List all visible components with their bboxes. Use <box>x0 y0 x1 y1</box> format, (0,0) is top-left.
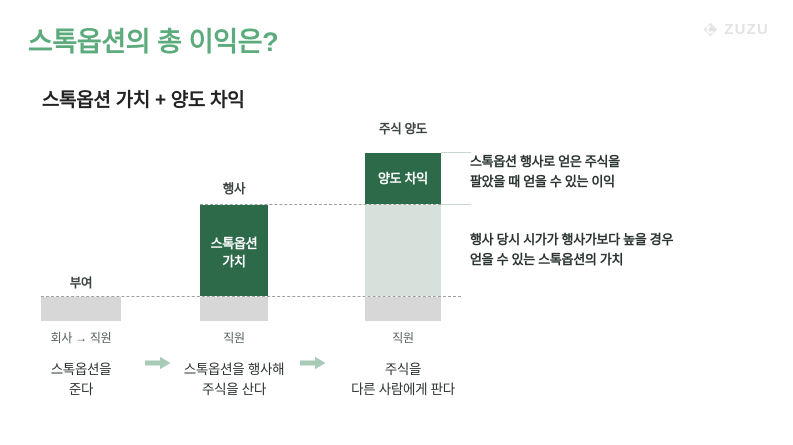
note-option-value-line1: 행사 당시 시가가 행사가보다 높을 경우 <box>470 230 673 250</box>
note-option-value-line2: 얻을 수 있는 스톡옵션의 가치 <box>470 250 673 270</box>
bar-transfer-strike <box>365 297 441 321</box>
bar-grant-strike <box>41 297 121 321</box>
bar-exercise-strike <box>200 297 268 321</box>
bar-transfer-option-value-shaded <box>365 205 441 296</box>
actor-label-step-2: 직원 <box>194 331 274 345</box>
step-text-2-line2: 주식을 산다 <box>202 382 266 397</box>
bar-label-option-value-line2: 가치 <box>222 254 245 269</box>
bar-exercise-option-value: 스톡옵션 가치 <box>200 205 268 296</box>
note-capital-gain-line2: 팔았을 때 얻을 수 있는 이익 <box>470 172 620 192</box>
step-text-1-line1: 스톡옵션을 <box>51 362 112 377</box>
bar-transfer-capital-gain: 양도 차익 <box>365 153 441 204</box>
step-text-2: 스톡옵션을 행사해 주식을 산다 <box>174 360 294 401</box>
gridline-transfer-top <box>441 152 471 153</box>
step-text-1: 스톡옵션을 준다 <box>11 360 151 401</box>
note-option-value: 행사 당시 시가가 행사가보다 높을 경우 얻을 수 있는 스톡옵션의 가치 <box>470 230 673 270</box>
step-text-1-line2: 준다 <box>69 382 93 397</box>
note-capital-gain-line1: 스톡옵션 행사로 얻은 주식을 <box>470 152 620 172</box>
step-text-2-line1: 스톡옵션을 행사해 <box>184 362 284 377</box>
caption-grant: 부여 <box>41 276 121 291</box>
flow-arrow-1-icon <box>145 356 171 370</box>
actor-label-step-3: 직원 <box>363 331 443 345</box>
caption-exercise: 행사 <box>200 182 268 197</box>
stock-option-waterfall-chart: 부여 행사 스톡옵션 가치 주식 양도 양도 차익 회사 → 직원 직원 직원 … <box>0 0 793 445</box>
caption-transfer: 주식 양도 <box>365 122 441 137</box>
slide-root: ZUZU 스톡옵션의 총 이익은? 스톡옵션 가치 + 양도 차익 부여 행사 … <box>0 0 793 445</box>
note-capital-gain: 스톡옵션 행사로 얻은 주식을 팔았을 때 얻을 수 있는 이익 <box>470 152 620 192</box>
bar-label-capital-gain: 양도 차익 <box>365 170 441 188</box>
bar-label-option-value-line1: 스톡옵션 <box>211 236 258 251</box>
step-text-3-line2: 다른 사람에게 판다 <box>351 382 455 397</box>
actor-label-step-1: 회사 → 직원 <box>21 331 141 345</box>
step-text-3-line1: 주식을 <box>385 362 421 377</box>
step-text-3: 주식을 다른 사람에게 판다 <box>328 360 478 401</box>
gridline-exercise-extension <box>441 204 471 205</box>
bar-label-option-value: 스톡옵션 가치 <box>200 235 268 270</box>
flow-arrow-2-icon <box>300 356 326 370</box>
